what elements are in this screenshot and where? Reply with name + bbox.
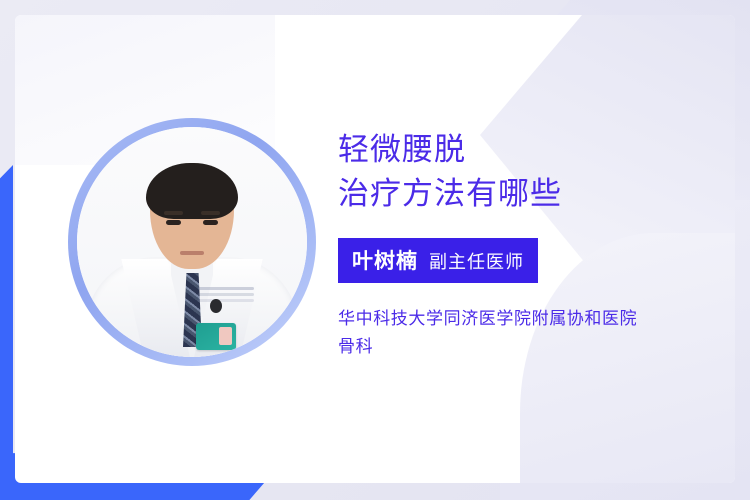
figure-hair: [146, 163, 238, 219]
figure-badge-reel: [210, 299, 222, 313]
doctor-badge-row: 叶树楠 副主任医师: [338, 238, 734, 283]
figure-id-badge: [196, 323, 236, 350]
doctor-figure: [77, 127, 307, 357]
doctor-name-badge: 叶树楠 副主任医师: [338, 238, 538, 283]
video-title: 轻微腰脱 治疗方法有哪些: [338, 128, 734, 216]
doctor-professional-title: 副主任医师: [429, 248, 524, 274]
text-content: 轻微腰脱 治疗方法有哪些 叶树楠 副主任医师 华中科技大学同济医学院附属协和医院…: [338, 128, 734, 360]
figure-eyebrow-left: [164, 211, 183, 215]
figure-id-badge-photo: [219, 327, 232, 345]
video-title-line-2: 治疗方法有哪些: [338, 176, 562, 211]
doctor-portrait: [68, 118, 316, 366]
figure-coat-embroidery: [198, 287, 254, 290]
video-title-line-1: 轻微腰脱: [338, 132, 466, 167]
figure-mouth: [180, 251, 204, 255]
doctor-department: 骨科: [338, 333, 734, 361]
figure-eye-right: [203, 220, 218, 225]
figure-eye-left: [166, 220, 181, 225]
video-thumbnail: 轻微腰脱 治疗方法有哪些 叶树楠 副主任医师 华中科技大学同济医学院附属协和医院…: [0, 0, 750, 500]
doctor-name: 叶树楠: [352, 245, 418, 275]
doctor-hospital: 华中科技大学同济医学院附属协和医院: [338, 305, 734, 333]
portrait-image: [77, 127, 307, 357]
figure-eyebrow-right: [201, 211, 220, 215]
doctor-affiliation: 华中科技大学同济医学院附属协和医院 骨科: [338, 305, 734, 360]
